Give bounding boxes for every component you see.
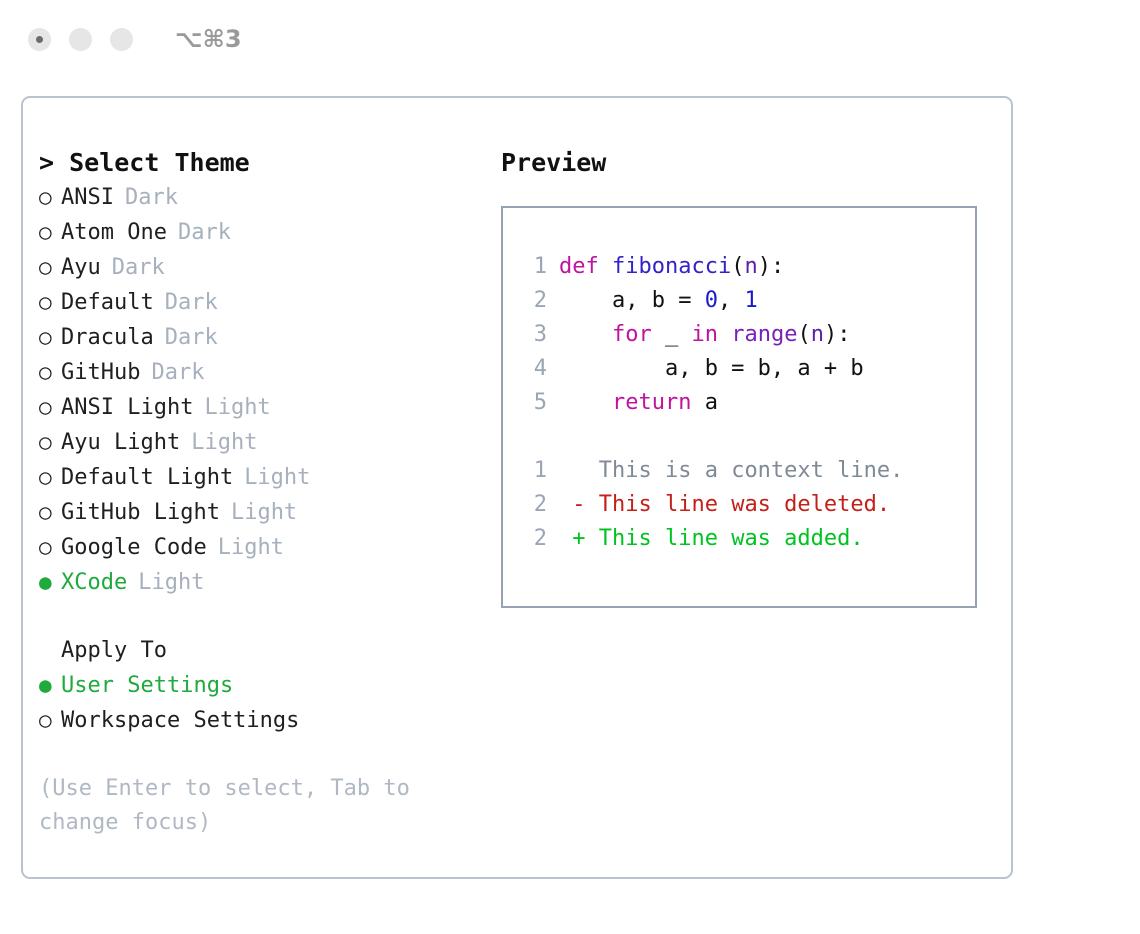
theme-option-ayu-light[interactable]: ○Ayu LightLight xyxy=(39,425,489,460)
window-dot-icon-3[interactable] xyxy=(110,28,133,51)
apply-to-option-list[interactable]: ●User Settings○Workspace Settings xyxy=(39,668,489,738)
theme-picker-panel: > Select Theme ○ANSIDark○Atom OneDark○Ay… xyxy=(21,96,1013,879)
theme-name-label: GitHub Light xyxy=(61,496,220,530)
theme-variant-label: Dark xyxy=(112,251,165,285)
diff-text: This is a context line. xyxy=(586,454,904,488)
theme-option-ansi[interactable]: ○ANSIDark xyxy=(39,180,489,215)
code-token-plain: a, b = xyxy=(559,284,705,318)
code-token-builtin: range xyxy=(731,318,797,352)
code-token-plain: a xyxy=(691,386,718,420)
radio-unselected-icon: ○ xyxy=(39,215,61,249)
theme-option-ayu[interactable]: ○AyuDark xyxy=(39,250,489,285)
theme-variant-label: Light xyxy=(204,391,270,425)
code-line: 3 for _ in range(n): xyxy=(521,318,975,352)
apply-to-label: User Settings xyxy=(61,669,233,703)
code-token-plain xyxy=(559,386,612,420)
code-token-num: 1 xyxy=(744,284,757,318)
theme-variant-label: Light xyxy=(218,531,284,565)
theme-option-ansi-light[interactable]: ○ANSI LightLight xyxy=(39,390,489,425)
diff-text: This line was deleted. xyxy=(586,488,891,522)
code-token-plain: ( xyxy=(731,250,744,284)
code-line: 1def fibonacci(n): xyxy=(521,250,975,284)
apply-to-label: Workspace Settings xyxy=(61,704,299,738)
preview-gap xyxy=(521,420,975,454)
theme-variant-label: Dark xyxy=(151,356,204,390)
preview-column: Preview 1def fibonacci(n):2 a, b = 0, 13… xyxy=(501,146,1001,608)
code-token-plain: a, b = b, a + b xyxy=(559,352,864,386)
diff-marker: + xyxy=(559,522,586,556)
diff-marker: - xyxy=(559,488,586,522)
theme-name-label: GitHub xyxy=(61,356,140,390)
radio-unselected-icon: ○ xyxy=(39,703,61,737)
code-preview: 1def fibonacci(n):2 a, b = 0, 13 for _ i… xyxy=(521,250,975,420)
code-token-kw: for xyxy=(612,318,652,352)
radio-unselected-icon: ○ xyxy=(39,495,61,529)
code-line-number: 3 xyxy=(521,318,547,352)
code-token-plain: ): xyxy=(758,250,785,284)
theme-variant-label: Dark xyxy=(178,216,231,250)
radio-unselected-icon: ○ xyxy=(39,250,61,284)
code-line-number: 2 xyxy=(521,284,547,318)
theme-variant-label: Dark xyxy=(165,321,218,355)
theme-variant-label: Dark xyxy=(165,286,218,320)
code-token-plain: , xyxy=(718,284,745,318)
theme-variant-label: Light xyxy=(138,566,204,600)
diff-text: This line was added. xyxy=(586,522,864,556)
theme-option-list[interactable]: ○ANSIDark○Atom OneDark○AyuDark○DefaultDa… xyxy=(39,180,489,600)
list-spacer xyxy=(39,600,489,634)
code-line: 5 return a xyxy=(521,386,975,420)
keyboard-hint-text: (Use Enter to select, Tab to change focu… xyxy=(39,772,459,840)
code-line: 4 a, b = b, a + b xyxy=(521,352,975,386)
code-line-number: 1 xyxy=(521,250,547,284)
window-controls xyxy=(28,28,133,51)
code-token-kw: in xyxy=(691,318,718,352)
theme-option-github-light[interactable]: ○GitHub LightLight xyxy=(39,495,489,530)
theme-name-label: Dracula xyxy=(61,321,154,355)
apply-to-option-workspace-settings[interactable]: ○Workspace Settings xyxy=(39,703,489,738)
theme-option-dracula[interactable]: ○DraculaDark xyxy=(39,320,489,355)
theme-variant-label: Light xyxy=(244,461,310,495)
theme-option-google-code[interactable]: ○Google CodeLight xyxy=(39,530,489,565)
code-token-plain xyxy=(718,318,731,352)
code-token-kw: return xyxy=(612,386,691,420)
code-token-num: 0 xyxy=(705,284,718,318)
theme-name-label: Atom One xyxy=(61,216,167,250)
theme-option-default[interactable]: ○DefaultDark xyxy=(39,285,489,320)
code-token-plain xyxy=(599,250,612,284)
theme-name-label: Ayu Light xyxy=(61,426,180,460)
code-token-plain: ): xyxy=(824,318,851,352)
code-line-number: 5 xyxy=(521,386,547,420)
code-token-fn: fibonacci xyxy=(612,250,731,284)
radio-unselected-icon: ○ xyxy=(39,355,61,389)
theme-variant-label: Dark xyxy=(125,181,178,215)
hint-spacer xyxy=(39,738,489,772)
preview-box: 1def fibonacci(n):2 a, b = 0, 13 for _ i… xyxy=(501,206,977,608)
theme-option-default-light[interactable]: ○Default LightLight xyxy=(39,460,489,495)
theme-list-column: > Select Theme ○ANSIDark○Atom OneDark○Ay… xyxy=(39,146,489,840)
diff-preview: 1 This is a context line.2 - This line w… xyxy=(521,454,975,556)
diff-line-ctx: 1 This is a context line. xyxy=(521,454,975,488)
code-token-kw: def xyxy=(559,250,599,284)
radio-selected-icon: ● xyxy=(39,565,61,599)
select-theme-header: > Select Theme xyxy=(39,146,489,180)
theme-variant-label: Light xyxy=(231,496,297,530)
theme-name-label: ANSI xyxy=(61,181,114,215)
preview-header: Preview xyxy=(501,146,1001,180)
apply-to-header: Apply To xyxy=(39,634,489,668)
theme-name-label: Ayu xyxy=(61,251,101,285)
radio-unselected-icon: ○ xyxy=(39,320,61,354)
theme-name-label: Default Light xyxy=(61,461,233,495)
app-window: ⌥⌘3 > Select Theme ○ANSIDark○Atom OneDar… xyxy=(0,0,1140,934)
radio-unselected-icon: ○ xyxy=(39,285,61,319)
radio-unselected-icon: ○ xyxy=(39,180,61,214)
code-token-plain: ( xyxy=(797,318,810,352)
theme-option-github[interactable]: ○GitHubDark xyxy=(39,355,489,390)
diff-line-number: 2 xyxy=(521,522,547,556)
radio-unselected-icon: ○ xyxy=(39,530,61,564)
code-token-plain: _ xyxy=(652,318,692,352)
diff-marker xyxy=(559,454,586,488)
theme-name-label: ANSI Light xyxy=(61,391,193,425)
window-dot-icon-2[interactable] xyxy=(69,28,92,51)
code-token-plain xyxy=(559,318,612,352)
diff-line-number: 2 xyxy=(521,488,547,522)
diff-line-del: 2 - This line was deleted. xyxy=(521,488,975,522)
theme-name-label: Google Code xyxy=(61,531,207,565)
theme-option-atom-one[interactable]: ○Atom OneDark xyxy=(39,215,489,250)
theme-variant-label: Light xyxy=(191,426,257,460)
code-line-number: 4 xyxy=(521,352,547,386)
diff-line-number: 1 xyxy=(521,454,547,488)
keyboard-shortcut-label: ⌥⌘3 xyxy=(175,25,242,53)
diff-line-add: 2 + This line was added. xyxy=(521,522,975,556)
code-token-param: n xyxy=(811,318,824,352)
apply-to-option-user-settings[interactable]: ●User Settings xyxy=(39,668,489,703)
radio-unselected-icon: ○ xyxy=(39,425,61,459)
radio-selected-icon: ● xyxy=(39,668,61,702)
code-line: 2 a, b = 0, 1 xyxy=(521,284,975,318)
radio-unselected-icon: ○ xyxy=(39,460,61,494)
code-token-param: n xyxy=(744,250,757,284)
theme-option-xcode[interactable]: ●XCodeLight xyxy=(39,565,489,600)
title-bar: ⌥⌘3 xyxy=(0,0,1140,78)
theme-name-label: Default xyxy=(61,286,154,320)
theme-name-label: XCode xyxy=(61,566,127,600)
radio-unselected-icon: ○ xyxy=(39,390,61,424)
window-dot-active-icon[interactable] xyxy=(28,28,51,51)
